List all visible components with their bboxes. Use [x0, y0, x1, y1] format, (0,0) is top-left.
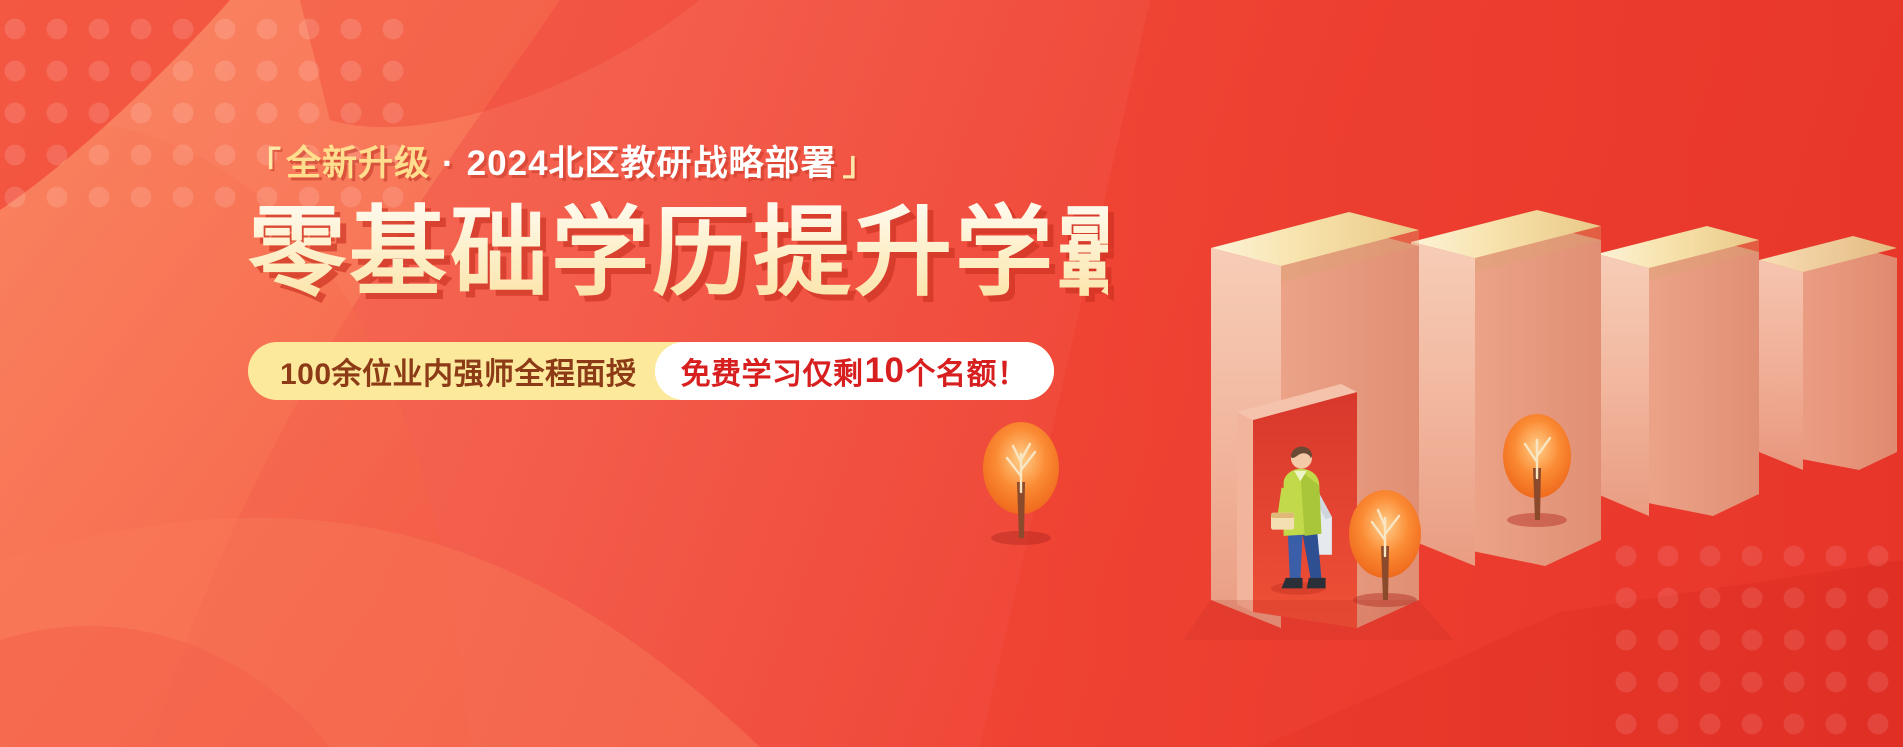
subtitle-highlight: 全新升级 — [286, 146, 430, 181]
subtitle-rest: 2024北区教研战略部署 — [467, 146, 837, 181]
book-arch-3 — [1597, 226, 1759, 516]
bracket-open-icon: 「 — [248, 147, 282, 180]
badge-row: 100余位业内强师全程面授 免费学习仅剩 10 个名额！ — [248, 342, 1054, 400]
bracket-close-icon: 」 — [843, 147, 877, 180]
badge-teachers-label: 100余位业内强师全程面授 — [280, 349, 637, 393]
tree-left — [983, 422, 1059, 545]
book-arch-4 — [1759, 236, 1897, 470]
page-title: 零基础学历提升学霸班 — [248, 201, 1108, 308]
book-arch-2 — [1411, 210, 1601, 566]
badge-seats-prefix: 免费学习仅剩 — [681, 349, 864, 393]
subtitle-separator: · — [430, 146, 467, 181]
badge-seats-remaining[interactable]: 免费学习仅剩 10 个名额！ — [655, 342, 1054, 400]
copy-block: 「 全新升级 · 2024北区教研战略部署 」 零基础学历提升学霸班 100余位… — [248, 146, 1108, 400]
badge-seats-suffix: 个名额！ — [906, 349, 1028, 393]
promo-banner: 「 全新升级 · 2024北区教研战略部署 」 零基础学历提升学霸班 100余位… — [0, 0, 1903, 747]
badge-seats-count: 10 — [864, 351, 906, 391]
subtitle: 「 全新升级 · 2024北区教研战略部署 」 — [248, 146, 1108, 181]
